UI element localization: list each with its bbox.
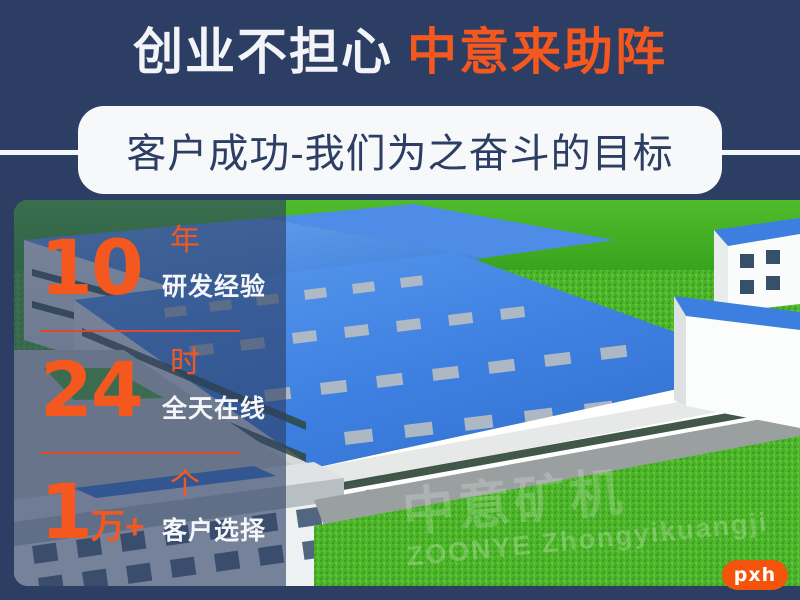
- headline: 创业不担心中意来助阵: [0, 20, 800, 84]
- stat-divider: [40, 452, 240, 454]
- banner-header: 创业不担心中意来助阵 客户成功-我们为之奋斗的目标: [0, 0, 800, 196]
- stat-row: 24 时 全天在线: [14, 340, 286, 456]
- headline-primary-text: 创业不担心: [133, 24, 393, 80]
- stat-divider: [40, 330, 240, 332]
- stat-number-value: 10: [40, 223, 142, 312]
- stat-number: 10: [40, 220, 142, 331]
- stat-number-suffix: 万+: [91, 508, 145, 546]
- pxh-logo-text: pxh: [734, 564, 776, 586]
- stat-number-value: 24: [40, 345, 142, 434]
- stat-number-value: 1: [40, 467, 91, 556]
- stat-number: 1万+: [40, 464, 145, 575]
- stat-number: 24: [40, 342, 142, 453]
- subtitle-pill: 客户成功-我们为之奋斗的目标: [78, 106, 722, 194]
- stat-label: 客户选择: [162, 514, 266, 548]
- stat-row: 1万+ 个 客户选择: [14, 462, 286, 578]
- stat-label: 研发经验: [162, 270, 266, 304]
- headline-accent-text: 中意来助阵: [407, 24, 667, 80]
- stat-row: 10 年 研发经验: [14, 218, 286, 334]
- pxh-logo-badge: pxh: [722, 560, 788, 590]
- stat-unit: 个: [170, 464, 200, 506]
- stats-panel: 10 年 研发经验 24 时 全天在线 1万+ 个 客户选择: [14, 200, 286, 586]
- stat-unit: 年: [170, 220, 200, 262]
- subtitle-text: 客户成功-我们为之奋斗的目标: [126, 121, 673, 179]
- promo-banner: 创业不担心中意来助阵 客户成功-我们为之奋斗的目标: [0, 0, 800, 600]
- stat-unit: 时: [170, 342, 200, 384]
- stat-label: 全天在线: [162, 392, 266, 426]
